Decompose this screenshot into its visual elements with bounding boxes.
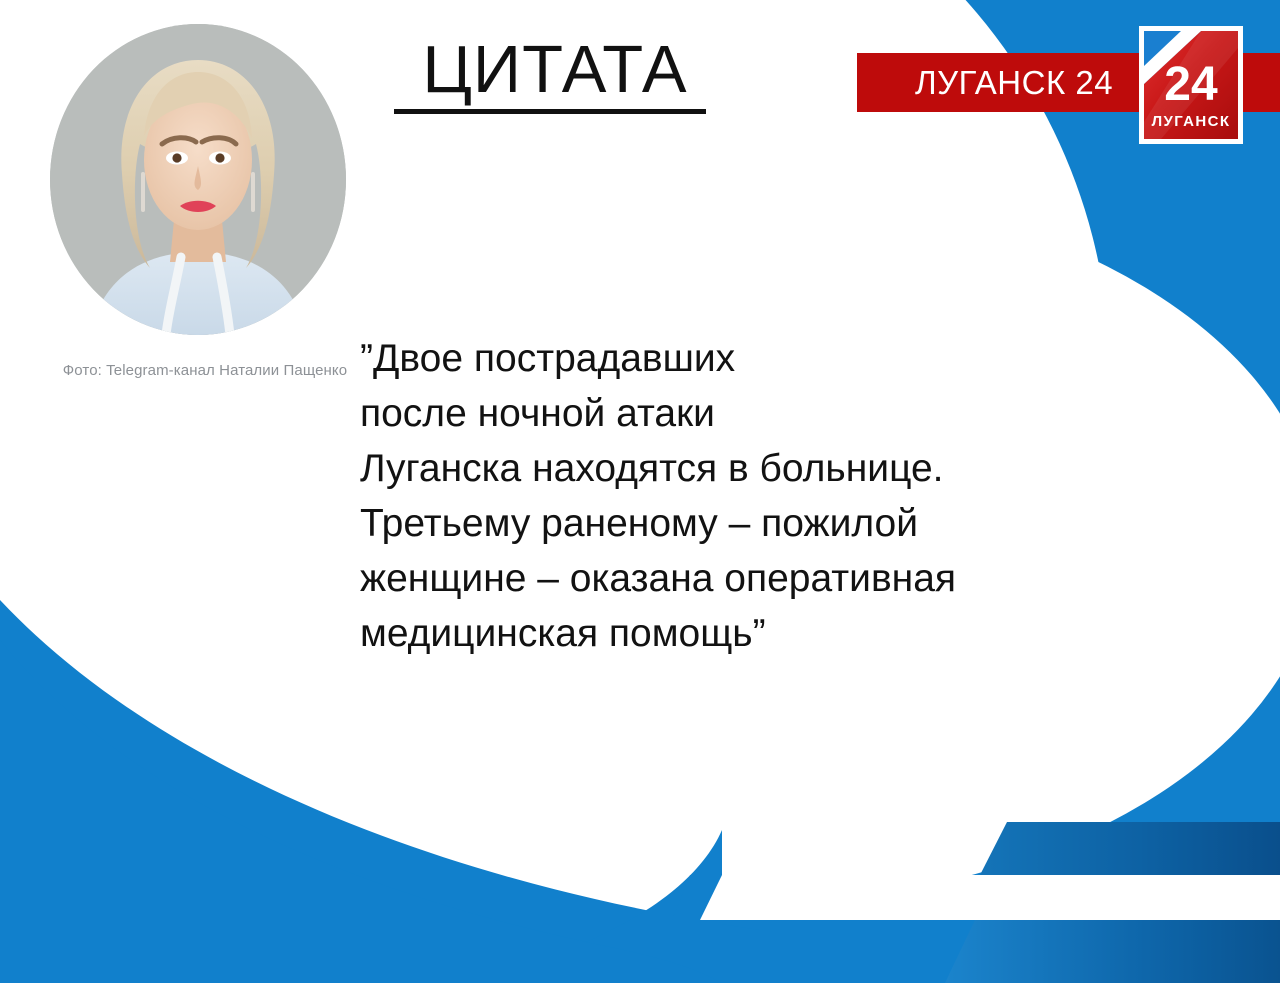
page-title: ЦИТАТА: [390, 36, 720, 103]
deep-blue-band-upper: [980, 822, 1280, 875]
portrait-photo: [50, 24, 346, 335]
headline-block: ЦИТАТА: [390, 36, 720, 114]
quote-card: Фото: Telegram-канал Наталии Пащенко ЦИТ…: [0, 0, 1280, 983]
channel-name: ЛУГАНСК 24: [915, 64, 1113, 102]
logo-mark: 24 ЛУГАНСК: [1139, 26, 1243, 144]
lugansk24-logo: 24 ЛУГАНСК: [1139, 26, 1243, 144]
portrait-circle: [50, 24, 346, 335]
logo-number: 24: [1164, 58, 1218, 111]
quote-line: после ночной атаки: [360, 386, 1010, 441]
speaker-attribution: Министр здравоохранения ЛНР Наталия Паще…: [722, 887, 1280, 915]
quote-line: медицинская помощь”: [360, 606, 1010, 661]
quote-text: ”Двое пострадавших после ночной атаки Лу…: [360, 331, 1010, 661]
quote-line: Третьему раненому – пожилой: [360, 496, 1010, 551]
deep-blue-band-lower: [945, 920, 1280, 983]
headline-underline: [394, 109, 706, 114]
quote-line: ”Двое пострадавших: [360, 331, 1010, 386]
logo-wordmark: ЛУГАНСК: [1152, 113, 1231, 130]
quote-line: женщине – оказана оперативная: [360, 551, 1010, 606]
portrait: [50, 24, 346, 335]
photo-credit: Фото: Telegram-канал Наталии Пащенко: [55, 362, 355, 379]
quote-line: Луганска находятся в больнице.: [360, 441, 1010, 496]
